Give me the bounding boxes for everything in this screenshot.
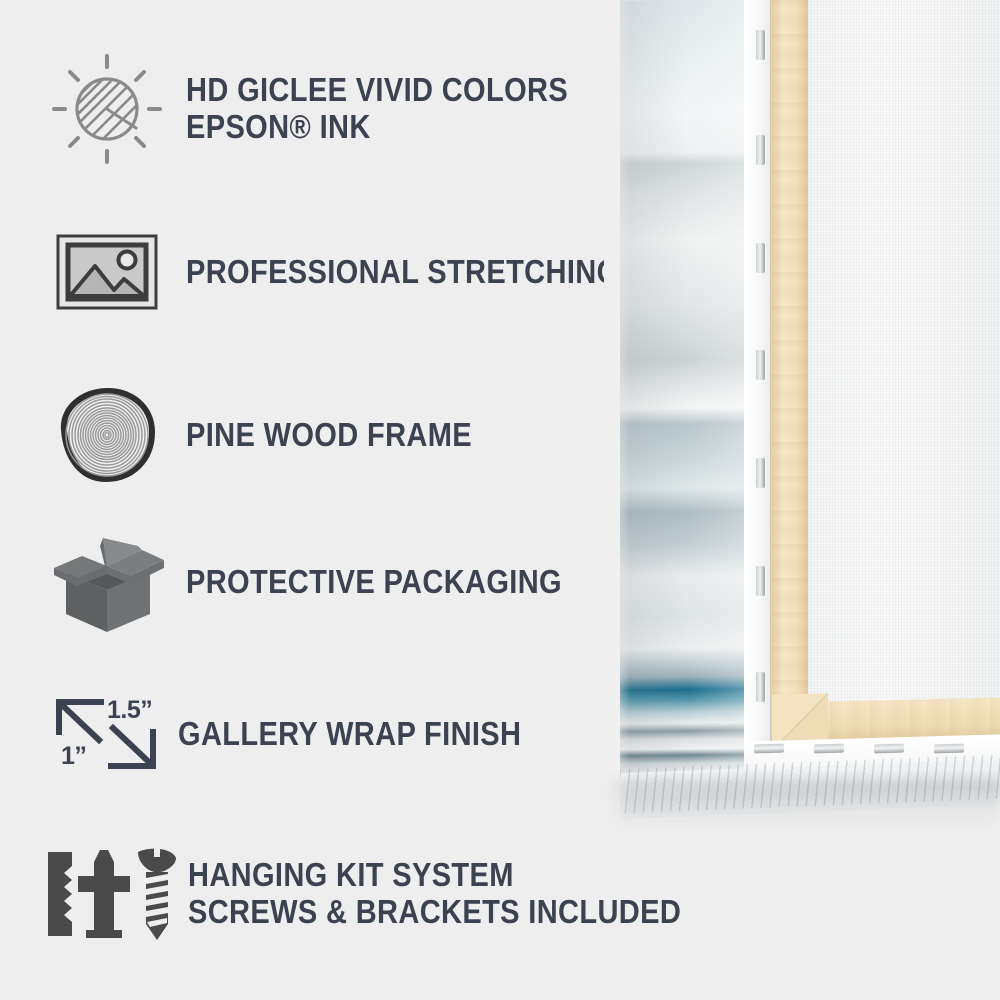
feature-label-hanging-kit: HANGING KIT SYSTEM SCREWS & BRACKETS INC… xyxy=(188,857,748,930)
feature-label-line: GALLERY WRAP FINISH xyxy=(178,716,521,753)
canvas-printed-side xyxy=(620,0,746,801)
staple xyxy=(756,566,765,596)
feature-row-hanging-kit: HANGING KIT SYSTEM SCREWS & BRACKETS INC… xyxy=(38,846,748,942)
staple xyxy=(756,243,765,273)
screws-brackets-icon xyxy=(38,846,178,942)
photo-left-fade xyxy=(604,0,630,828)
feature-row-stretching: PROFESSIONAL STRETCHING xyxy=(42,222,679,322)
depth-label-upper: 1.5” xyxy=(107,696,152,725)
canvas-frame-corner-photo xyxy=(604,0,1000,828)
canvas-back-weave xyxy=(808,0,1000,800)
sun-hatched-icon xyxy=(42,50,172,168)
photo-drop-shadow xyxy=(604,778,1000,828)
feature-label-line: EPSON® INK xyxy=(186,109,568,146)
staple xyxy=(756,30,765,60)
feature-label-line: HD GICLEE VIVID COLORS xyxy=(186,72,568,109)
staple xyxy=(756,350,765,380)
feature-list: HD GICLEE VIVID COLORS EPSON® INK PROFES… xyxy=(0,0,640,1000)
depth-label-lower: 1” xyxy=(61,742,86,771)
staple xyxy=(754,744,784,754)
depth-arrows-icon: 1.5” 1” xyxy=(42,688,172,780)
feature-label-packaging: PROTECTIVE PACKAGING xyxy=(186,564,613,601)
feature-label-line: PROTECTIVE PACKAGING xyxy=(186,564,562,601)
infographic-page: HD GICLEE VIVID COLORS EPSON® INK PROFES… xyxy=(0,0,1000,1000)
feature-row-packaging: PROTECTIVE PACKAGING xyxy=(42,528,613,636)
feature-label-giclee: HD GICLEE VIVID COLORS EPSON® INK xyxy=(186,72,620,145)
tree-rings-icon xyxy=(42,380,172,490)
feature-label-line: HANGING KIT SYSTEM xyxy=(188,857,681,894)
feature-label-line: PROFESSIONAL STRETCHING xyxy=(186,254,620,291)
staple xyxy=(756,672,765,702)
feature-label-line: SCREWS & BRACKETS INCLUDED xyxy=(188,894,681,931)
staple xyxy=(874,744,904,754)
staple xyxy=(756,135,765,165)
open-box-icon xyxy=(42,528,172,636)
feature-label-line: PINE WOOD FRAME xyxy=(186,417,472,454)
feature-row-gallery-wrap: 1.5” 1” GALLERY WRAP FINISH xyxy=(42,688,568,780)
feature-row-pine: PINE WOOD FRAME xyxy=(42,380,511,490)
staple xyxy=(934,744,964,754)
staple xyxy=(756,458,765,488)
framed-picture-icon xyxy=(42,222,172,322)
staple xyxy=(814,744,844,754)
feature-label-gallery-wrap: GALLERY WRAP FINISH xyxy=(178,716,568,753)
pine-stretcher-bar-vertical xyxy=(772,0,808,790)
feature-row-giclee: HD GICLEE VIVID COLORS EPSON® INK xyxy=(42,50,620,168)
feature-label-pine: PINE WOOD FRAME xyxy=(186,417,511,454)
